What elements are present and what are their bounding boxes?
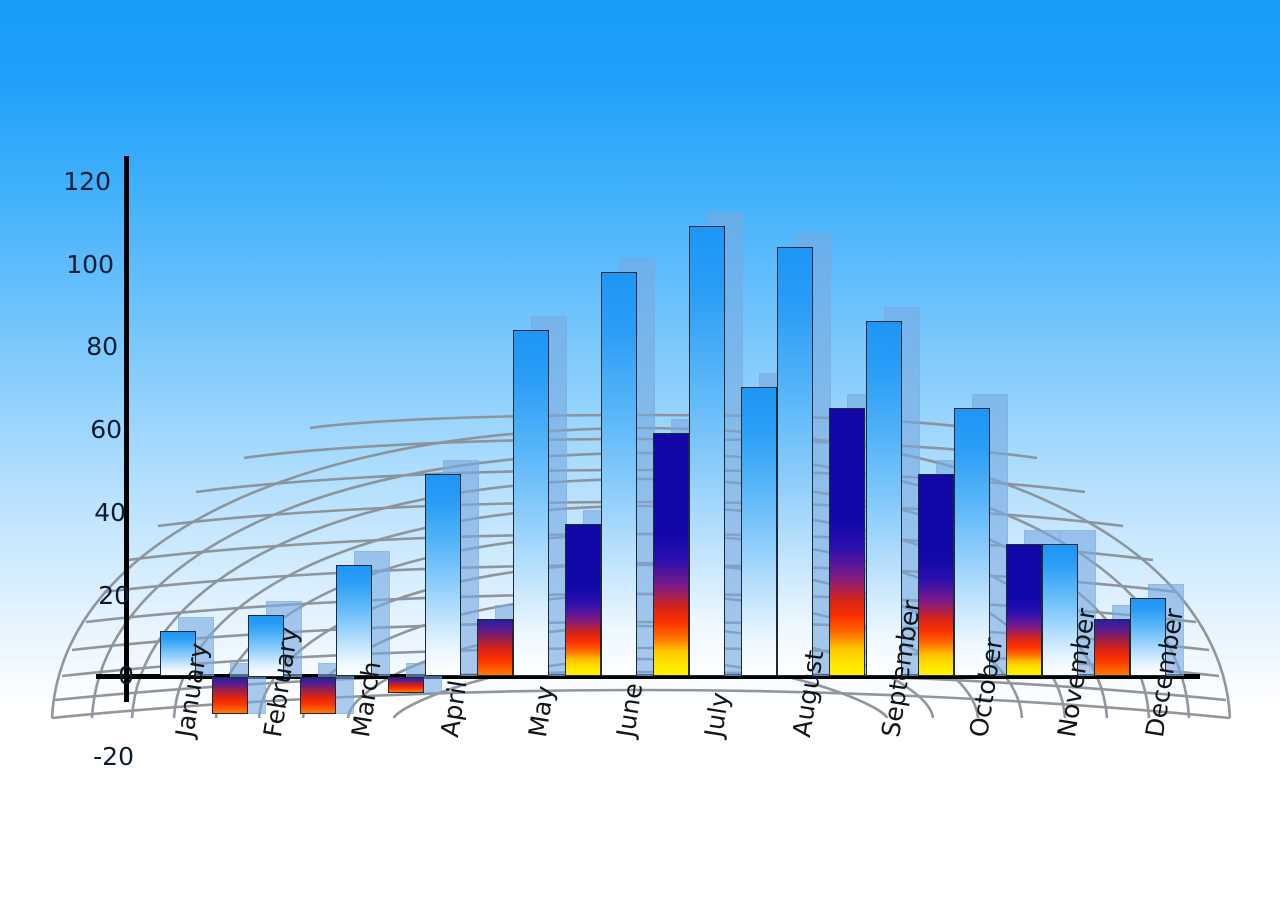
y-tick-label-20: 20 (74, 583, 130, 608)
x-axis-label-june: June (613, 681, 646, 739)
y-tick-label--20: -20 (56, 744, 134, 769)
bar-front-face (513, 330, 549, 677)
y-tick-label-60: 60 (66, 417, 122, 442)
y-tick-label-80: 80 (62, 334, 118, 359)
bar-front-face (388, 677, 424, 694)
bar-front-face (477, 619, 513, 677)
bar-front-face (601, 272, 637, 677)
bar-february-series-2 (300, 677, 354, 714)
bar-may-series-1 (513, 330, 567, 677)
bar-front-face (689, 226, 725, 676)
bar-front-face (336, 565, 372, 676)
x-axis-label-july: July (701, 691, 733, 739)
bar-march-series-2 (388, 677, 442, 694)
bar-front-face (1094, 619, 1130, 677)
bar-front-face (1006, 544, 1042, 676)
y-tick-label-0: 0 (78, 663, 134, 688)
y-axis-line (124, 156, 129, 702)
bar-front-face (425, 474, 461, 676)
chart-canvas: 120 100 80 60 40 20 0 -20 JanuaryFebruar… (0, 0, 1280, 905)
bar-front-face (741, 387, 777, 676)
bar-january-series-2 (212, 677, 266, 714)
bar-april-series-1 (425, 474, 479, 676)
bar-front-face (212, 677, 248, 714)
bar-front-face (918, 474, 954, 676)
bar-june-series-1 (601, 272, 655, 677)
y-tick-label-40: 40 (70, 500, 126, 525)
bar-front-face (565, 524, 601, 677)
y-tick-label-100: 100 (58, 252, 114, 277)
bar-front-face (300, 677, 336, 714)
plot-area: 120 100 80 60 40 20 0 -20 JanuaryFebruar… (0, 0, 1280, 905)
bar-front-face (829, 408, 865, 676)
bar-july-series-1 (689, 226, 743, 676)
bar-front-face (777, 247, 813, 676)
x-axis-label-may: May (525, 684, 558, 739)
x-axis-label-april: April (437, 679, 471, 739)
bar-august-series-1 (777, 247, 831, 676)
y-tick-label-120: 120 (55, 169, 111, 194)
bar-front-face (653, 433, 689, 677)
